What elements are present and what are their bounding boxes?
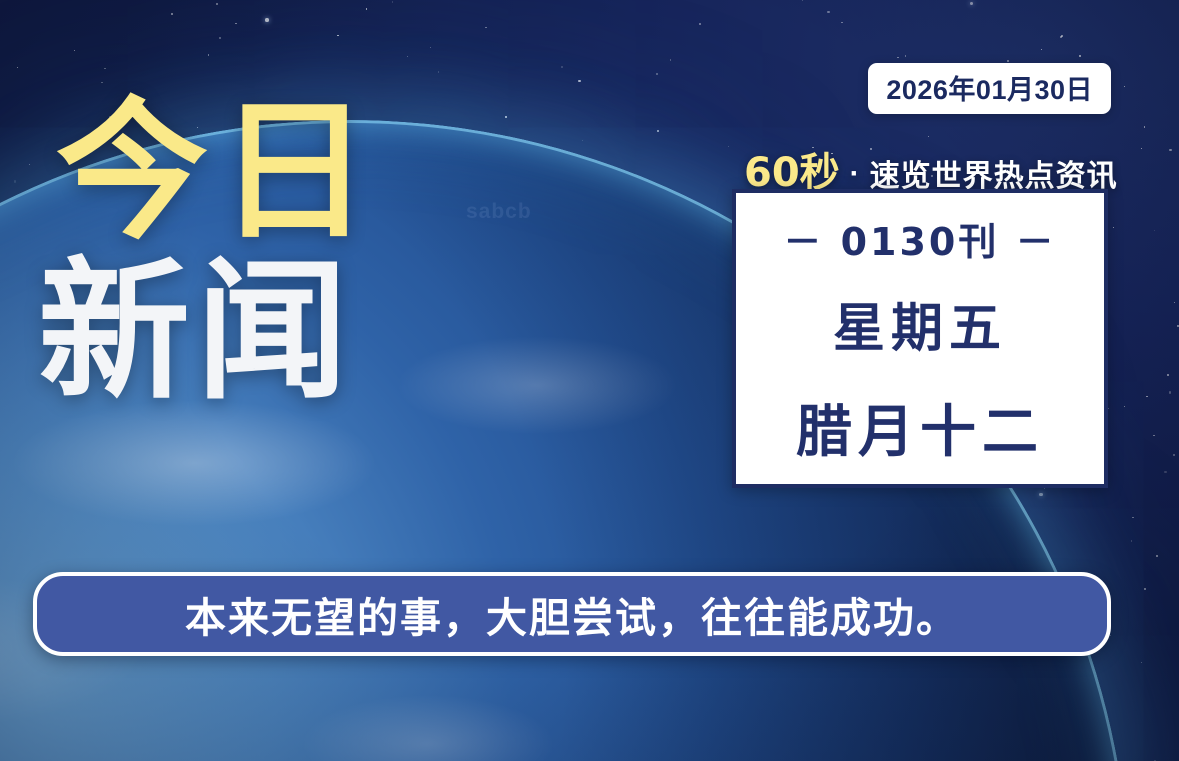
issue-number: － 0130刊 － <box>783 211 1056 266</box>
lunar-date-label: 腊月十二 <box>796 387 1044 468</box>
title-line-news: 新闻 <box>38 254 476 409</box>
quote-banner: 本来无望的事，大胆尝试，往往能成功。 <box>33 572 1111 656</box>
weekday-label: 星期五 <box>833 286 1007 361</box>
title-line-today: 今日 <box>56 96 476 248</box>
info-card: － 0130刊 － 星期五 腊月十二 <box>732 189 1108 488</box>
date-badge: 2026年01月30日 <box>868 63 1111 114</box>
tagline-separator-dot: · <box>850 157 860 191</box>
poster-title: 今日 新闻 <box>56 96 476 409</box>
quote-text: 本来无望的事，大胆尝试，往往能成功。 <box>185 584 959 644</box>
news-poster: sabcb 今日 新闻 2026年01月30日 60秒 · 速览世界热点资讯 －… <box>0 0 1179 761</box>
